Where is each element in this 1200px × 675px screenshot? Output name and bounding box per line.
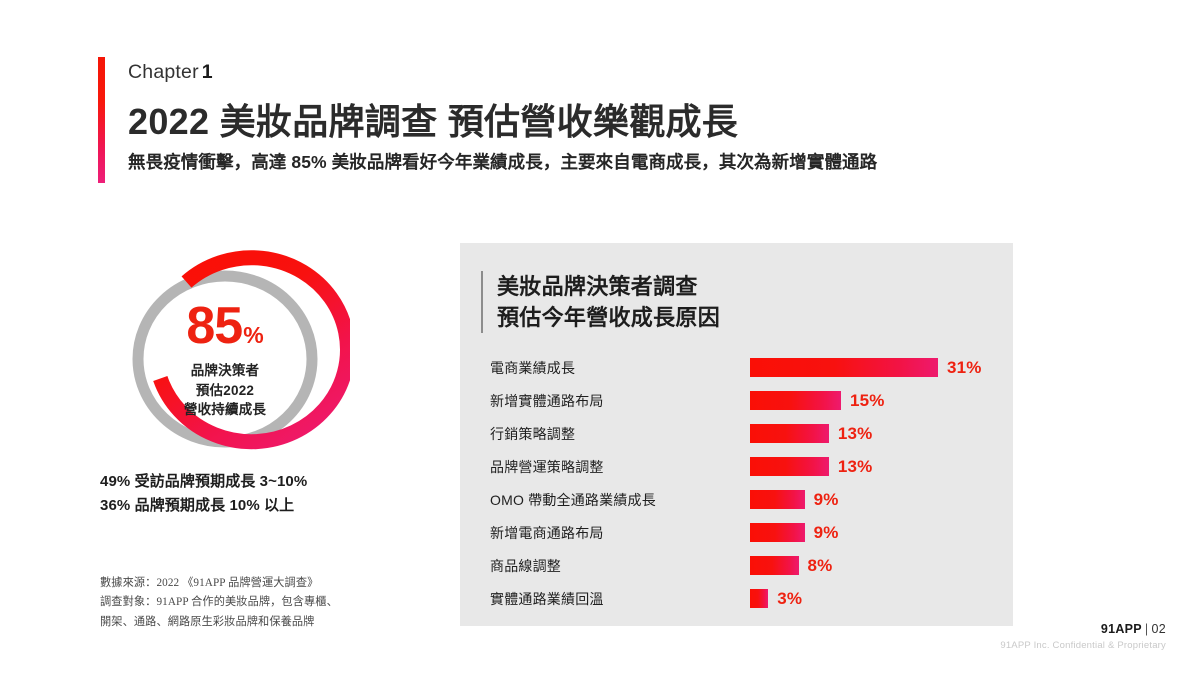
donut-center-content: 85 % 品牌決策者 預估2022 營收持續成長 bbox=[100, 248, 350, 470]
bar-label: 品牌營運策略調整 bbox=[490, 457, 750, 477]
page-title: 2022 美妝品牌調查 預估營收樂觀成長 bbox=[128, 93, 738, 145]
bar-label: OMO 帶動全通路業績成長 bbox=[490, 490, 750, 510]
bar-track: 8% bbox=[750, 549, 1000, 582]
bar-row: OMO 帶動全通路業績成長9% bbox=[490, 483, 1000, 516]
footnote-line: 開架、通路、網路原生彩妝品牌和保養品牌 bbox=[100, 613, 400, 632]
bar-fill bbox=[750, 523, 805, 542]
slide-header: Chapter1 2022 美妝品牌調查 預估營收樂觀成長 無畏疫情衝擊，高達 … bbox=[98, 57, 1098, 187]
bar-track: 15% bbox=[750, 384, 1000, 417]
bar-fill bbox=[750, 490, 805, 509]
slide-footer: 91APP|02 91APP Inc. Confidential & Propr… bbox=[1000, 622, 1166, 651]
footnote-line: 數據來源：2022 《91APP 品牌營運大調查》 bbox=[100, 574, 400, 593]
page-subtitle: 無畏疫情衝擊，高達 85% 美妝品牌看好今年業績成長，主要來自電商成長，其次為新… bbox=[128, 149, 877, 174]
donut-caption: 品牌決策者 預估2022 營收持續成長 bbox=[184, 361, 266, 420]
source-footnote: 數據來源：2022 《91APP 品牌營運大調查》 調查對象：91APP 合作的… bbox=[100, 574, 400, 632]
bar-value: 13% bbox=[838, 457, 873, 477]
bar-value: 9% bbox=[814, 490, 839, 510]
chapter-label: Chapter1 bbox=[128, 61, 213, 84]
footnote-line: 調查對象：91APP 合作的美妝品牌，包含專櫃、 bbox=[100, 593, 400, 612]
bar-label: 實體通路業績回溫 bbox=[490, 589, 750, 609]
chapter-word: Chapter bbox=[128, 61, 199, 83]
footer-brand: 91APP|02 bbox=[1000, 622, 1166, 636]
bar-value: 31% bbox=[947, 358, 982, 378]
donut-caption-line: 營收持續成長 bbox=[184, 400, 266, 420]
stat-list: 49% 受訪品牌預期成長 3~10% 36% 品牌預期成長 10% 以上 bbox=[100, 470, 430, 519]
bar-label: 行銷策略調整 bbox=[490, 424, 750, 444]
bar-row: 行銷策略調整13% bbox=[490, 417, 1000, 450]
chapter-number: 1 bbox=[202, 61, 213, 83]
bar-fill bbox=[750, 457, 829, 476]
bar-value: 9% bbox=[814, 523, 839, 543]
page-number: 02 bbox=[1151, 622, 1166, 636]
bar-value: 13% bbox=[838, 424, 873, 444]
donut-chart: 85 % 品牌決策者 預估2022 營收持續成長 bbox=[100, 248, 350, 470]
bar-track: 13% bbox=[750, 417, 1000, 450]
bar-label: 新增實體通路布局 bbox=[490, 391, 750, 411]
bar-fill bbox=[750, 358, 938, 377]
bar-value: 8% bbox=[808, 556, 833, 576]
header-accent-bar bbox=[98, 57, 105, 183]
bar-value: 3% bbox=[777, 589, 802, 609]
donut-value-row: 85 % bbox=[186, 300, 263, 352]
bar-chart-rows: 電商業績成長31%新增實體通路布局15%行銷策略調整13%品牌營運策略調整13%… bbox=[490, 351, 1000, 615]
bar-row: 品牌營運策略調整13% bbox=[490, 450, 1000, 483]
bar-track: 31% bbox=[750, 351, 1000, 384]
donut-caption-line: 品牌決策者 bbox=[184, 361, 266, 381]
bar-chart-title: 美妝品牌決策者調查 預估今年營收成長原因 bbox=[481, 271, 720, 333]
bar-row: 新增實體通路布局15% bbox=[490, 384, 1000, 417]
bar-row: 新增電商通路布局9% bbox=[490, 516, 1000, 549]
bar-chart-title-line: 美妝品牌決策者調查 bbox=[497, 271, 720, 302]
bar-label: 新增電商通路布局 bbox=[490, 523, 750, 543]
donut-unit: % bbox=[243, 324, 263, 347]
brand-name: 91APP bbox=[1101, 622, 1142, 636]
bar-fill bbox=[750, 556, 799, 575]
bar-chart-title-line: 預估今年營收成長原因 bbox=[497, 302, 720, 333]
bar-row: 電商業績成長31% bbox=[490, 351, 1000, 384]
bar-track: 9% bbox=[750, 483, 1000, 516]
bar-track: 13% bbox=[750, 450, 1000, 483]
stat-line: 49% 受訪品牌預期成長 3~10% bbox=[100, 470, 430, 494]
bar-label: 商品線調整 bbox=[490, 556, 750, 576]
footer-separator: | bbox=[1145, 622, 1149, 636]
bar-chart-panel: 美妝品牌決策者調查 預估今年營收成長原因 電商業績成長31%新增實體通路布局15… bbox=[460, 243, 1013, 626]
bar-fill bbox=[750, 589, 768, 608]
bar-fill bbox=[750, 391, 841, 410]
bar-label: 電商業績成長 bbox=[490, 358, 750, 378]
bar-row: 商品線調整8% bbox=[490, 549, 1000, 582]
bar-value: 15% bbox=[850, 391, 885, 411]
bar-row: 實體通路業績回溫3% bbox=[490, 582, 1000, 615]
bar-track: 9% bbox=[750, 516, 1000, 549]
confidential-note: 91APP Inc. Confidential & Proprietary bbox=[1000, 640, 1166, 651]
bar-fill bbox=[750, 424, 829, 443]
bar-track: 3% bbox=[750, 582, 1000, 615]
stat-line: 36% 品牌預期成長 10% 以上 bbox=[100, 494, 430, 518]
donut-value: 85 bbox=[186, 300, 242, 352]
donut-caption-line: 預估2022 bbox=[184, 381, 266, 401]
